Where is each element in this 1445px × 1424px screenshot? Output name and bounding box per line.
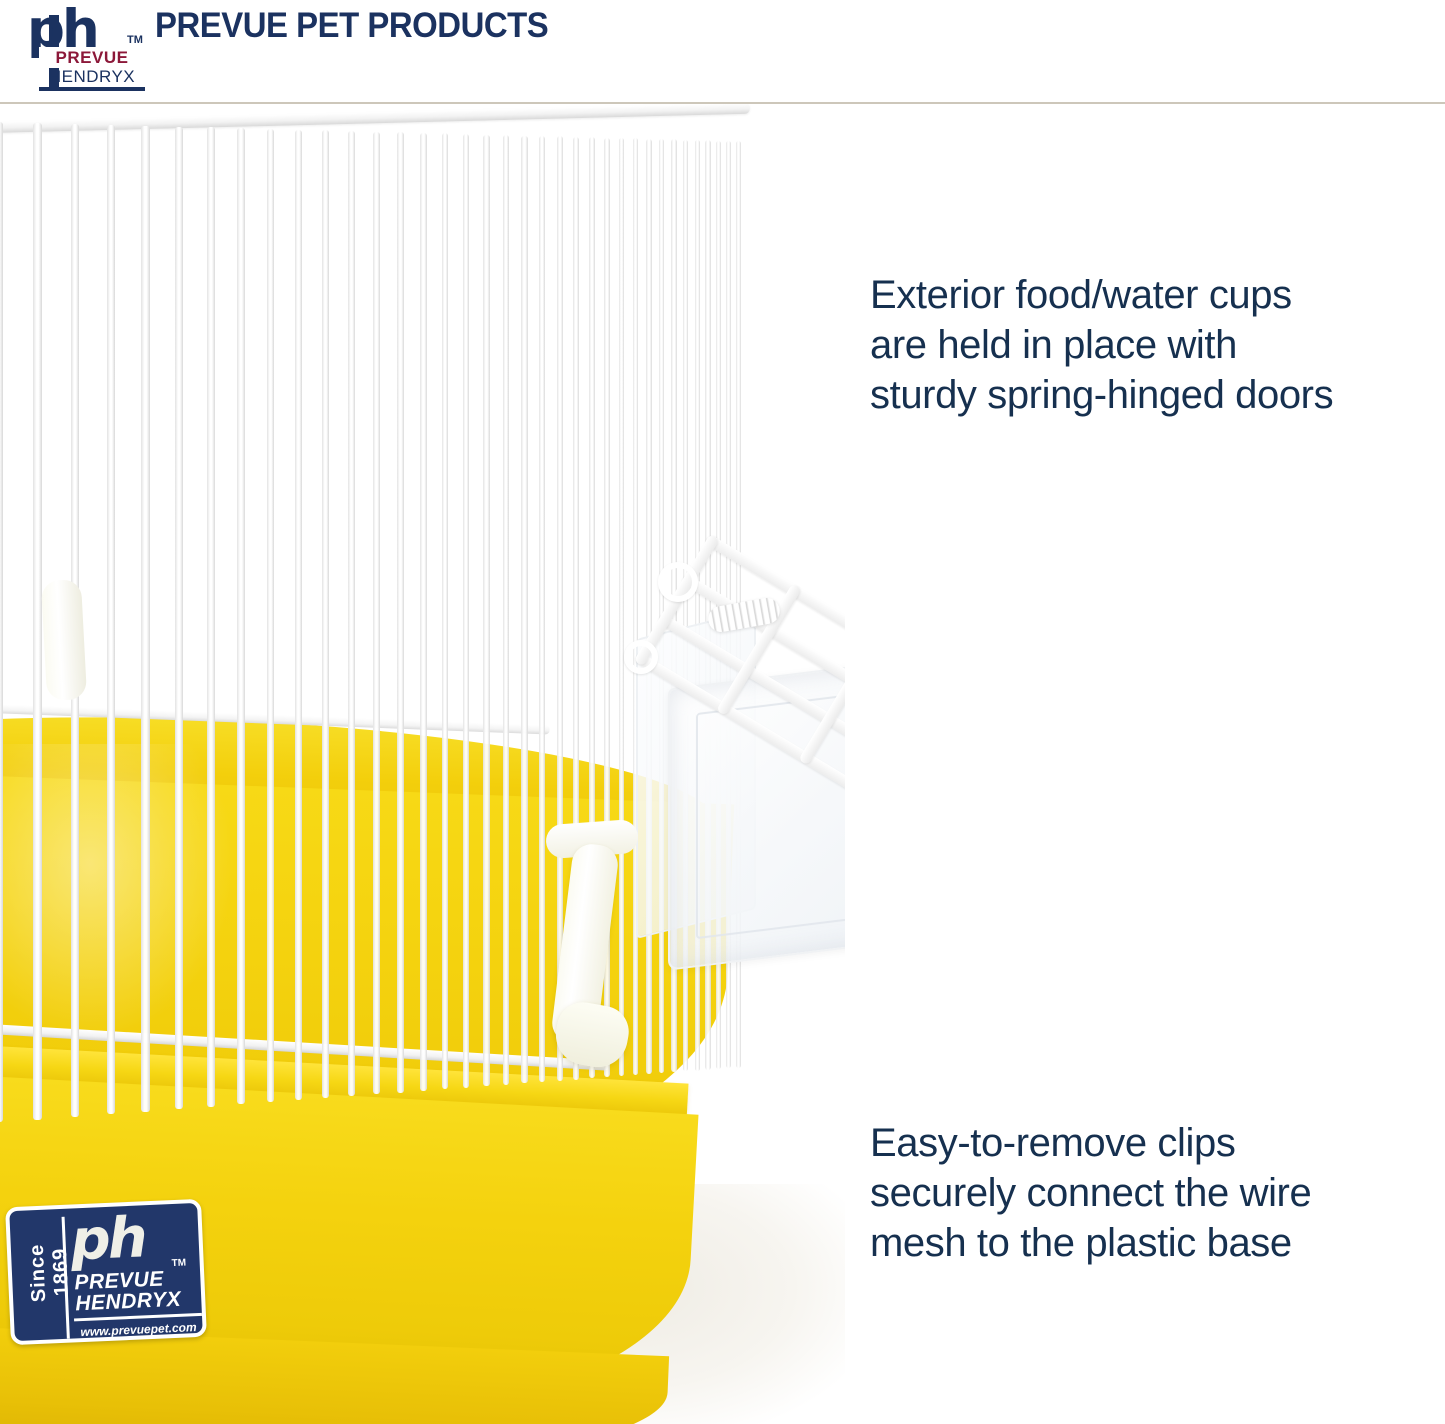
- base-clip-secondary: [41, 579, 87, 701]
- door-hook-lower: [624, 640, 658, 674]
- cage-wire: [483, 135, 489, 1087]
- callout-food-water-cups: Exterior food/water cups are held in pla…: [870, 270, 1340, 420]
- sticker-brand-hendryx: HENDRYX: [75, 1288, 202, 1315]
- logo-underline: [39, 87, 145, 91]
- cage-wire: [397, 132, 404, 1092]
- cage-wire: [322, 130, 329, 1098]
- cage-wire: [175, 127, 183, 1110]
- cage-wire: [295, 130, 302, 1101]
- logo-brand-prevue: PREVUE: [39, 47, 145, 68]
- cage-wire: [539, 136, 545, 1082]
- cage-wire: [33, 123, 42, 1120]
- brand-logo: ph TM PREVUE HENDRYX: [27, 7, 145, 85]
- logo-brand-hendryx: HENDRYX: [39, 67, 145, 87]
- product-sticker: Since 1869 ph TM PREVUE HENDRYX www.prev…: [5, 1199, 207, 1345]
- cage-wire: [348, 131, 355, 1096]
- callout-removable-clips: Easy-to-remove clips securely connect th…: [870, 1118, 1340, 1268]
- cage-wire: [521, 136, 527, 1084]
- door-hook-upper: [658, 562, 698, 602]
- spring-hinged-door-assembly: [600, 434, 845, 1154]
- cage-wire: [107, 125, 115, 1114]
- cage-wire: [141, 126, 149, 1112]
- cage-wire: [463, 134, 470, 1088]
- cage-wire: [420, 133, 427, 1091]
- cage-wire: [267, 129, 275, 1102]
- cage-wire: [237, 128, 245, 1104]
- page-header: ph TM PREVUE HENDRYX PREVUE PET PRODUCTS: [0, 0, 1445, 104]
- header-divider: [0, 102, 1445, 104]
- logo-trademark-icon: TM: [127, 34, 143, 46]
- cage-wire: [0, 122, 3, 1123]
- page-title: PREVUE PET PRODUCTS: [155, 6, 644, 45]
- cage-wire: [442, 133, 449, 1089]
- product-photo: Since 1869 ph TM PREVUE HENDRYX www.prev…: [0, 104, 845, 1424]
- cage-wire: [373, 132, 380, 1095]
- cage-lower-rail: [0, 1024, 609, 1071]
- cage-wire: [503, 135, 509, 1085]
- cage-wire: [207, 127, 215, 1106]
